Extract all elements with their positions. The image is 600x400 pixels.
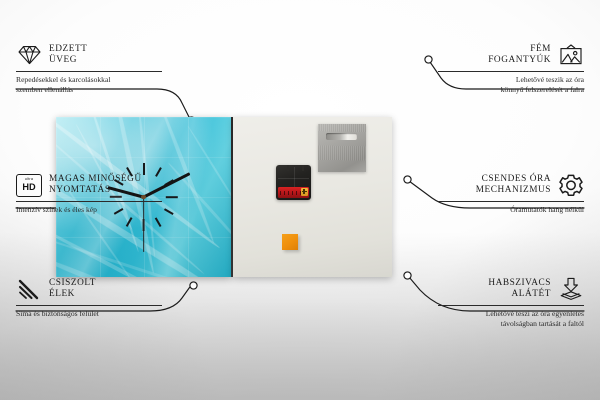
feature-description: Óramutatók hang nélkül	[438, 205, 584, 215]
gear-icon	[558, 173, 584, 197]
clock-back-panel	[233, 117, 392, 277]
wire-endpoint-metal-handles	[425, 56, 432, 63]
feature-foam-pad: HABSZIVACS ALÁTÉT Lehetővé teszi az óra …	[438, 277, 584, 328]
divider	[16, 71, 162, 72]
mechanism-lug	[287, 165, 304, 171]
feature-title: FÉM FOGANTYÚK	[488, 44, 551, 67]
divider	[438, 201, 584, 202]
divider	[16, 305, 162, 306]
polished-edges-icon	[16, 277, 42, 301]
foam-pad	[282, 234, 298, 250]
feature-silent-mechanism: CSENDES ÓRA MECHANIZMUS Óramutatók hang …	[438, 173, 584, 215]
feature-title: EDZETT ÜVEG	[49, 44, 87, 67]
divider	[16, 201, 162, 202]
feature-title: MAGAS MINŐSÉGŰ NYOMTATÁS	[49, 174, 142, 197]
feature-title: HABSZIVACS ALÁTÉT	[488, 278, 551, 301]
feature-description: Intenzív színek és éles kép	[16, 205, 162, 215]
wire-endpoint-silent-mechanism	[404, 176, 411, 183]
feature-description: Sima és biztonságos felület	[16, 309, 162, 319]
ultra-hd-icon: ultra HD	[16, 173, 42, 197]
feature-tempered-glass: EDZETT ÜVEG Repedésekkel és karcolásokka…	[16, 43, 162, 94]
feature-metal-handles: FÉM FOGANTYÚK Lehetővé teszik az óra kön…	[438, 43, 584, 94]
feature-polished-edges: CSISZOLT ÉLEK Sima és biztonságos felüle…	[16, 277, 162, 319]
feature-high-quality-print: ultra HD MAGAS MINŐSÉGŰ NYOMTATÁS Intenz…	[16, 173, 162, 215]
metal-hanger	[318, 124, 366, 172]
feature-description: Repedésekkel és karcolásokkal szemben el…	[16, 75, 162, 94]
feature-description: Lehetővé teszi az óra egyenletes távolsá…	[438, 309, 584, 328]
battery	[278, 187, 309, 198]
foam-pad-arrow-icon	[558, 277, 584, 301]
infographic-canvas: EDZETT ÜVEG Repedésekkel és karcolásokka…	[0, 0, 600, 400]
diamond-icon	[16, 43, 42, 67]
feature-description: Lehetővé teszik az óra könnyű felszerelé…	[438, 75, 584, 94]
feature-title: CSENDES ÓRA MECHANIZMUS	[476, 174, 551, 197]
wire-endpoint-polished-edges	[190, 282, 197, 289]
wire-endpoint-foam-pad	[404, 272, 411, 279]
quartz-mechanism	[276, 165, 311, 200]
divider	[438, 305, 584, 306]
picture-frame-hanger-icon	[558, 43, 584, 67]
feature-title: CSISZOLT ÉLEK	[49, 278, 96, 301]
divider	[438, 71, 584, 72]
